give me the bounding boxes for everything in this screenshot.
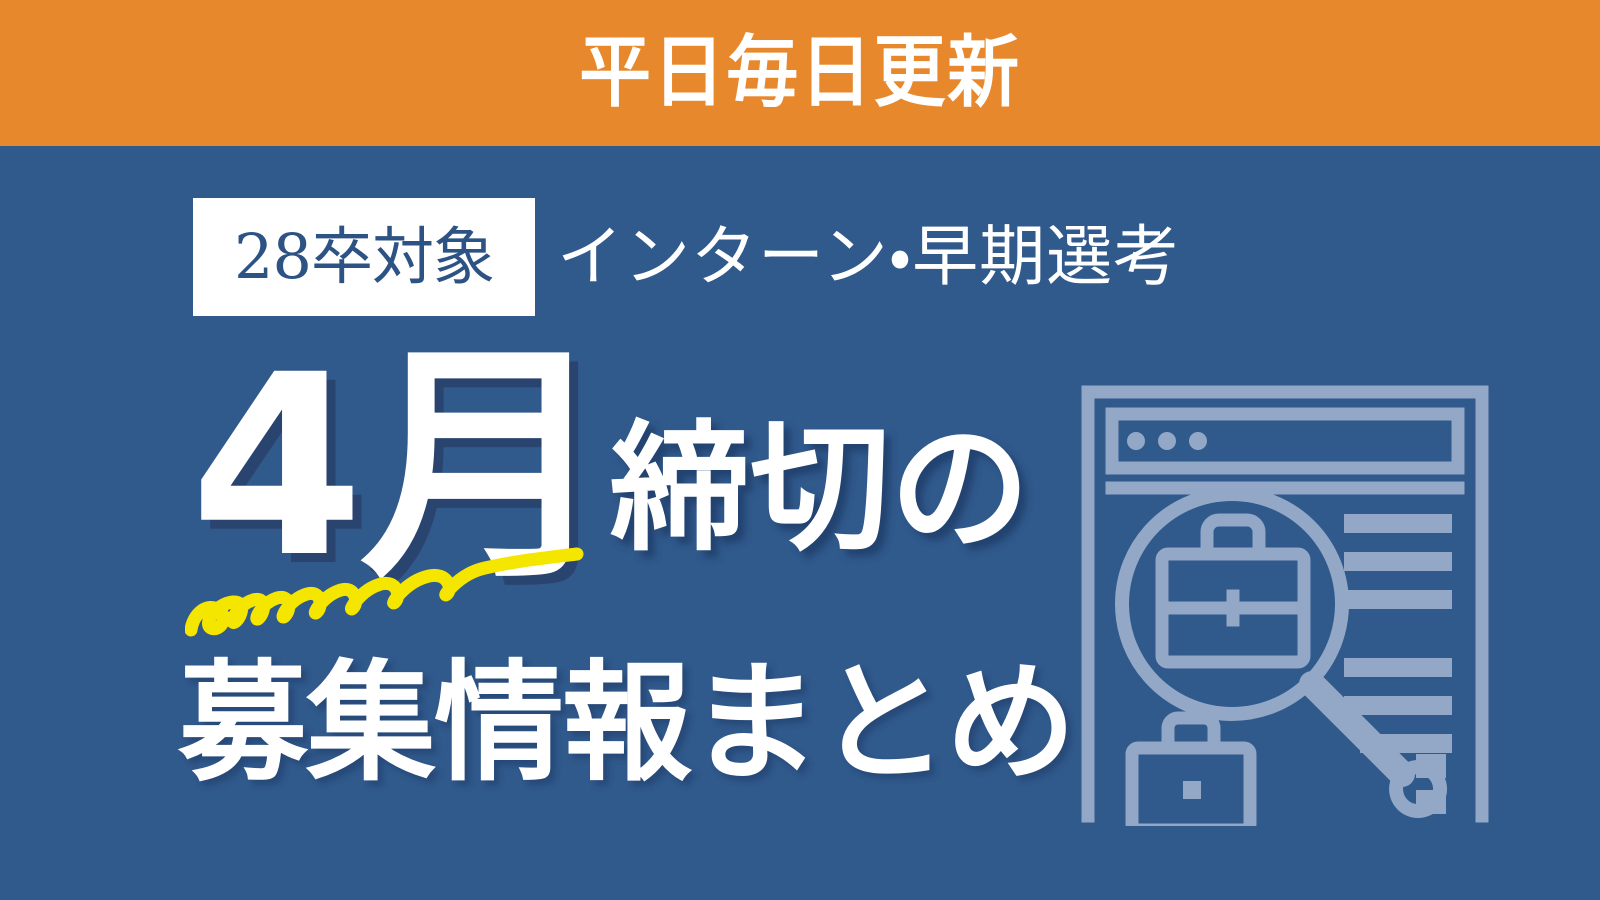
recruitment-banner: 平日毎日更新 28卒対象 インターン・早期選考 4月 締切の 募集情報まとめ (0, 0, 1600, 900)
graduation-year-badge: 28卒対象 (193, 198, 535, 316)
update-frequency-ribbon: 平日毎日更新 (0, 0, 1600, 146)
summary-headline: 募集情報まとめ (178, 658, 1074, 788)
graduation-year-badge-label: 28卒対象 (234, 226, 494, 288)
magnifier-icon (1122, 494, 1440, 811)
headline-row: 4月 締切の (190, 324, 1030, 574)
briefcase-icon-large (1162, 520, 1304, 662)
briefcase-icon-small (1132, 718, 1250, 826)
job-search-illustration (1050, 356, 1520, 826)
month-headline: 4月 (190, 359, 606, 574)
subheadline-row: 28卒対象 インターン・早期選考 (193, 198, 1180, 316)
update-frequency-label: 平日毎日更新 (579, 34, 1021, 112)
browser-titlebar-dots (1127, 432, 1207, 450)
banner-body: 28卒対象 インターン・早期選考 4月 締切の 募集情報まとめ (0, 146, 1600, 900)
subheadline-label: インターン・早期選考 (557, 224, 1180, 290)
deadline-headline: 締切の (610, 420, 1030, 574)
